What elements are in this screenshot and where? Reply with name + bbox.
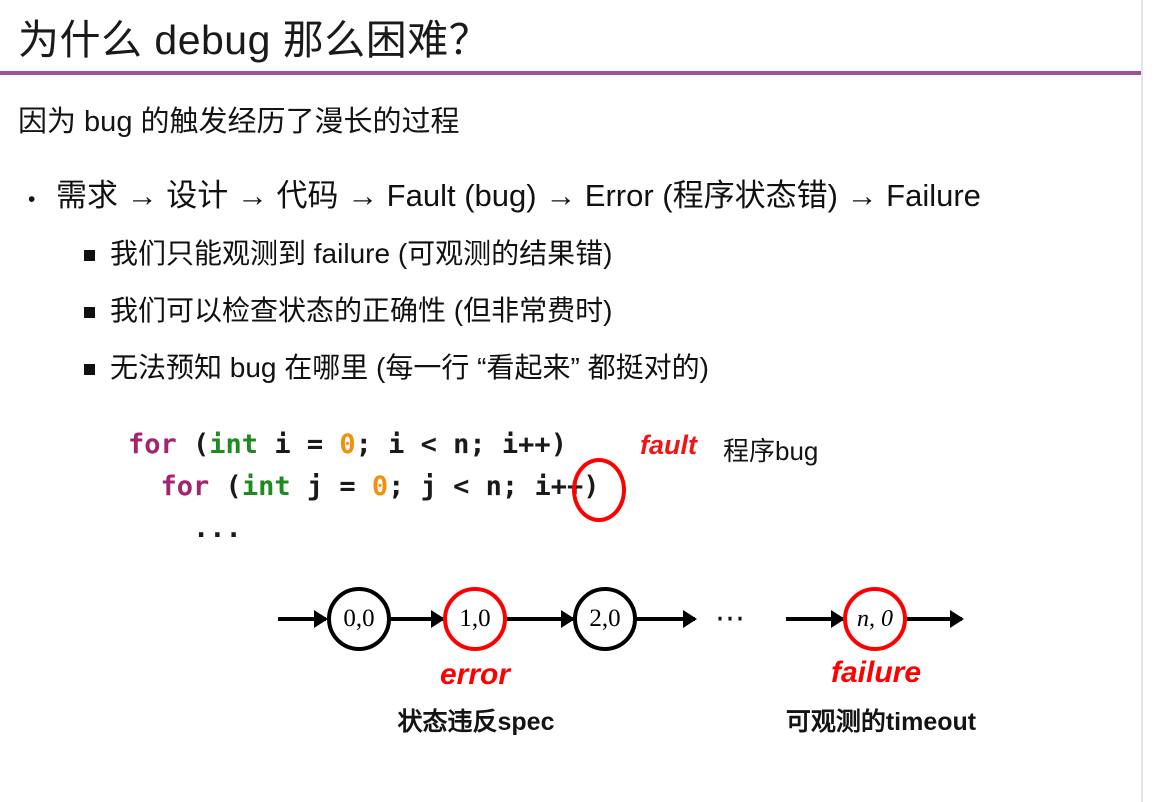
code-type-int: int: [242, 471, 291, 502]
slide-canvas: 为什么 debug 那么困难？ 因为 bug 的触发经历了漫长的过程 • 需求 …: [0, 0, 1154, 802]
list-item-label: 需求 → 设计 → 代码 → Fault (bug) → Error (程序状态…: [56, 170, 981, 215]
state-machine-diagram: 0,0 1,0 2,0 ⋯ n, 0: [0, 575, 1154, 675]
red-ellipse-highlight-icon: [572, 458, 626, 522]
code-number-zero: 0: [372, 471, 388, 502]
bullet-dot-icon: •: [28, 189, 56, 210]
code-keyword-for: for: [128, 429, 177, 460]
state-node-label: 1,0: [459, 605, 490, 633]
state-node-label: n, 0: [857, 606, 893, 633]
list-item-label: 我们只能观测到 failure (可观测的结果错): [110, 232, 612, 272]
list-item: 我们只能观测到 failure (可观测的结果错): [84, 232, 612, 272]
state-node-n-failure: n, 0: [843, 587, 907, 651]
edge-arrow-n-out: [907, 617, 962, 621]
code-punct: (: [177, 429, 210, 460]
failure-annotation-label: failure: [812, 656, 940, 690]
list-item: 我们可以检查状态的正确性 (但非常费时): [84, 289, 612, 329]
arrow-head-icon: [683, 610, 697, 628]
code-block: for (int i = 0; i < n; i++) for (int j =…: [128, 424, 599, 550]
code-var-j: j =: [291, 471, 372, 502]
edge-arrow-1-2: [507, 617, 573, 621]
code-indent: [128, 471, 161, 502]
list-item-label: 我们可以检查状态的正确性 (但非常费时): [110, 289, 612, 329]
code-var-i: i =: [258, 429, 339, 460]
page-title: 为什么 debug 那么困难？: [18, 6, 490, 66]
bullet-square-icon: [84, 238, 110, 270]
edge-arrow-in-n: [786, 617, 843, 621]
edge-arrow-in: [278, 617, 326, 621]
list-item: • 需求 → 设计 → 代码 → Fault (bug) → Error (程序…: [28, 170, 981, 215]
arrow-head-icon: [314, 610, 328, 628]
edge-arrow-0-1: [391, 617, 443, 621]
state-node-label: 2,0: [589, 605, 620, 633]
bullet-square-icon: [84, 352, 110, 384]
code-line1-rest: ; i < n; i++): [356, 429, 567, 460]
bullet-square-icon: [84, 295, 110, 327]
code-punct: (: [209, 471, 242, 502]
code-number-zero: 0: [339, 429, 355, 460]
list-item: 无法预知 bug 在哪里 (每一行 “看起来” 都挺对的): [84, 346, 709, 386]
state-node-0: 0,0: [327, 587, 391, 651]
code-line3-ellipsis: ...: [128, 513, 242, 544]
state-node-2: 2,0: [573, 587, 637, 651]
error-annotation-label: error: [430, 658, 520, 692]
list-item-label: 无法预知 bug 在哪里 (每一行 “看起来” 都挺对的): [110, 346, 709, 386]
state-node-label: 0,0: [343, 605, 374, 633]
code-keyword-for: for: [161, 471, 210, 502]
edge-arrow-2-out: [637, 617, 695, 621]
fault-annotation-label: fault: [640, 430, 697, 461]
code-type-int: int: [209, 429, 258, 460]
code-line2-rest: ; j < n; i++): [388, 471, 599, 502]
arrow-head-icon: [950, 610, 964, 628]
slide-right-border: [1141, 0, 1143, 802]
failure-caption: 可观测的timeout: [762, 702, 1000, 738]
lead-paragraph: 因为 bug 的触发经历了漫长的过程: [18, 98, 460, 140]
state-node-1-error: 1,0: [443, 587, 507, 651]
diagram-ellipsis: ⋯: [715, 601, 748, 636]
title-underline-rule: [0, 71, 1141, 75]
fault-annotation-note: 程序bug: [723, 431, 818, 468]
error-caption: 状态违反spec: [383, 702, 569, 738]
